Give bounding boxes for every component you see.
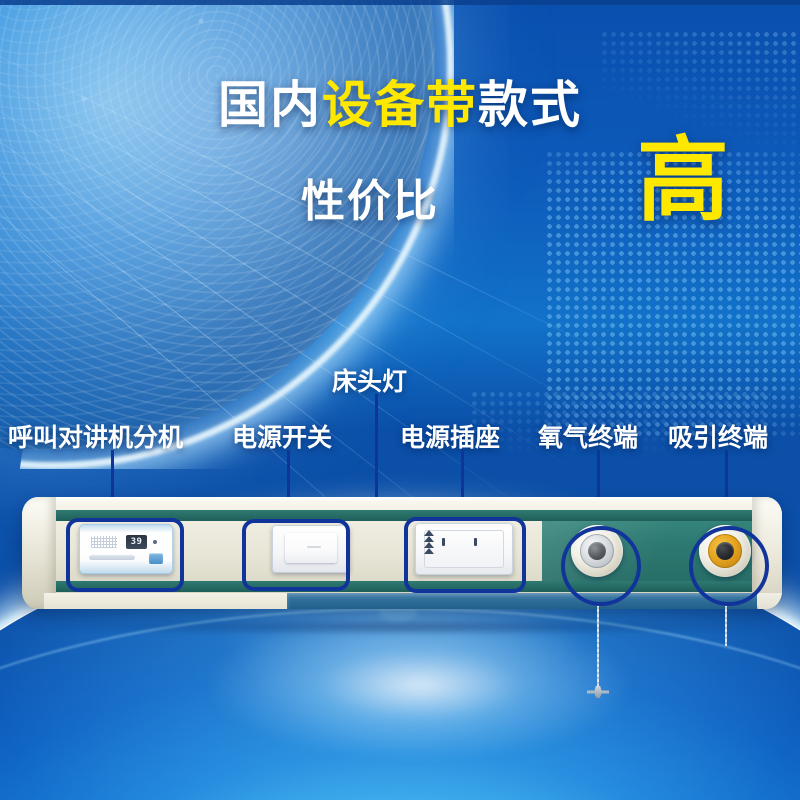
- suction-hanging-cord: [725, 604, 727, 646]
- callout-label-power-switch: 电源开关: [232, 418, 332, 454]
- oxygen-hanging-cord: [597, 604, 599, 692]
- unit-lower-lip-right: [757, 593, 782, 609]
- top-edge-bar: [0, 0, 800, 5]
- callout-label-bed-lamp: 床头灯: [332, 362, 407, 398]
- unit-service-rail: [287, 593, 767, 609]
- callout-label-power-socket: 电源插座: [400, 418, 500, 454]
- unit-drop-shadow: [57, 619, 757, 635]
- highlight-box-power-switch: [242, 519, 350, 591]
- headline-highlight-char: 高: [637, 135, 729, 227]
- headline-subtext: 性价比: [301, 165, 439, 229]
- callout-label-suction: 吸引终端: [668, 418, 768, 454]
- highlight-ring-oxygen: [561, 526, 641, 606]
- highlight-ring-suction: [689, 526, 769, 606]
- callout-label-oxygen: 氧气终端: [538, 418, 638, 454]
- headline-block: 国内设备带款式 性价比 高: [0, 80, 800, 130]
- headline-text-yellow: 设备带: [322, 77, 478, 133]
- headline-text-white-2: 款式: [478, 77, 582, 133]
- headline-line-1: 国内设备带款式: [0, 80, 800, 130]
- headline-text-white-1: 国内: [218, 77, 322, 133]
- highlight-box-power-socket: [404, 517, 526, 593]
- callout-label-intercom: 呼叫对讲机分机: [8, 418, 183, 454]
- product-banner: 国内设备带款式 性价比 高 呼叫对讲机分机 电源开关 床头灯 电源插座 氧气终端…: [0, 0, 800, 800]
- highlight-box-intercom: [66, 518, 184, 592]
- unit-lower-lip-left: [44, 593, 294, 609]
